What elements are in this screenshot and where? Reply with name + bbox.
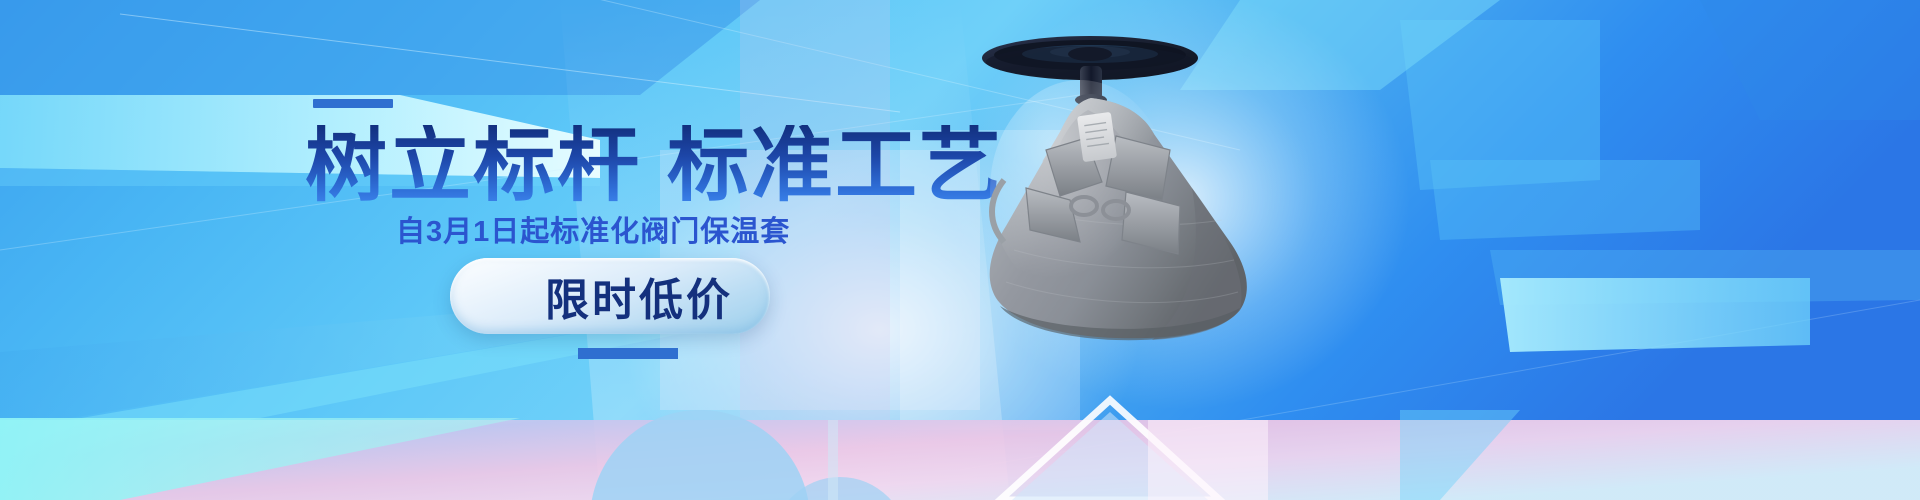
- page-title: 树立标杆标准工艺: [305, 125, 1003, 207]
- accent-underline-bottom: [578, 348, 678, 359]
- limited-price-cta-button[interactable]: 限时低价: [450, 258, 770, 334]
- cta-label: 限时低价: [487, 264, 733, 328]
- banner-subtitle: 自3月1日起标准化阀门保温套: [396, 216, 790, 248]
- product-tag: [1077, 112, 1117, 162]
- headline-part-one: 树立标杆: [305, 120, 641, 211]
- promo-banner: 树立标杆标准工艺 自3月1日起标准化阀门保温套 限时低价: [0, 0, 1920, 500]
- accent-bar-top: [313, 99, 393, 108]
- valve-jacket-illustration: [930, 10, 1400, 390]
- product-image-valve-insulation-jacket: CovHot: [930, 10, 1400, 390]
